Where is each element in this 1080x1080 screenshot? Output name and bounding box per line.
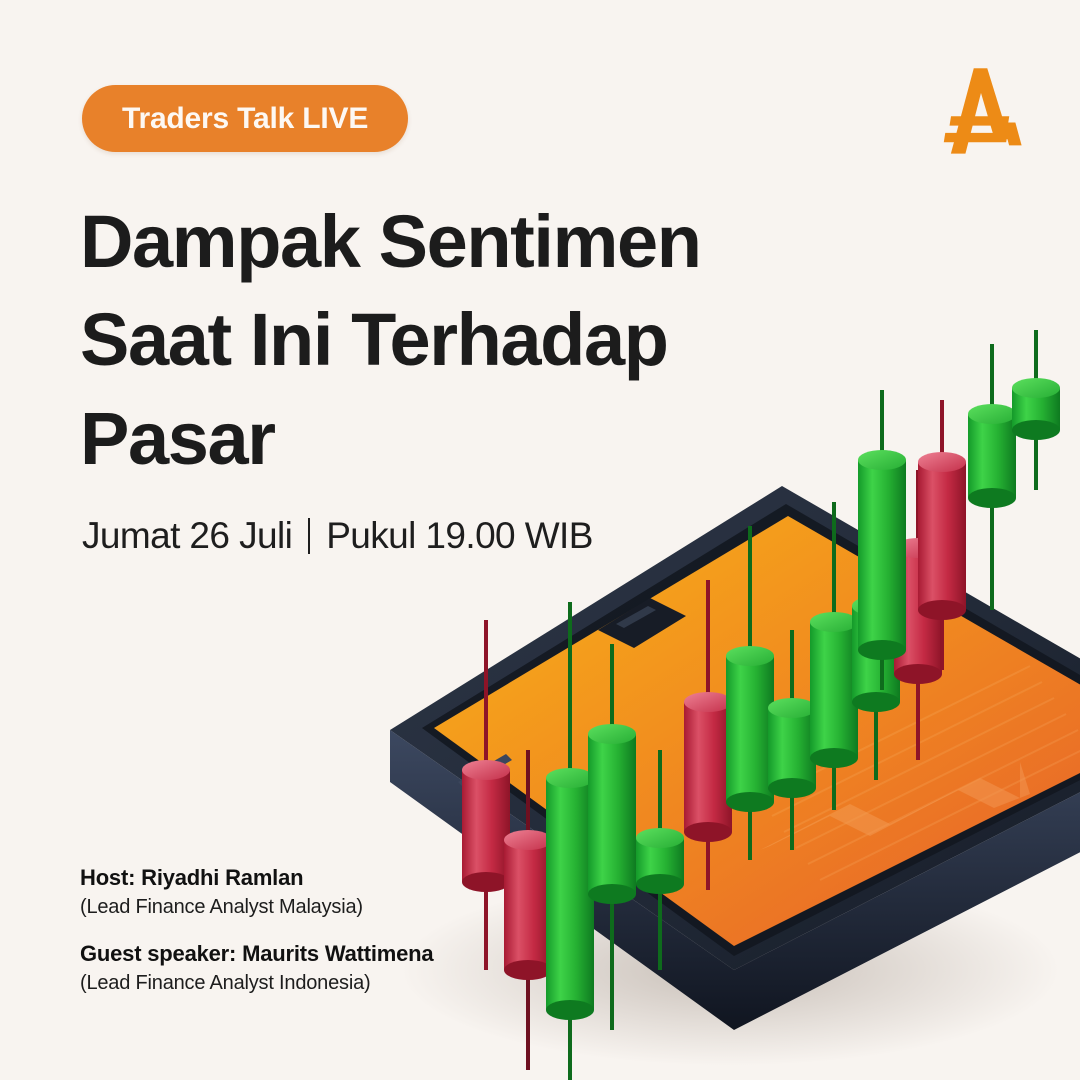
- live-badge[interactable]: Traders Talk LIVE: [82, 85, 408, 152]
- phone-candlestick-illustration: [330, 330, 1080, 1080]
- poster-canvas: Traders Talk LIVE Dampak Sentimen Saat I…: [0, 0, 1080, 1080]
- brand-logo: [928, 58, 1032, 162]
- schedule-separator-icon: [308, 518, 310, 554]
- credits: Host: Riyadhi Ramlan (Lead Finance Analy…: [80, 865, 433, 995]
- live-badge-label: Traders Talk LIVE: [122, 102, 368, 136]
- host-role: (Lead Finance Analyst Malaysia): [80, 896, 433, 919]
- candle-bull-15: [1012, 330, 1060, 490]
- credit-host: Host: Riyadhi Ramlan (Lead Finance Analy…: [80, 865, 433, 919]
- host-name: Host: Riyadhi Ramlan: [80, 865, 433, 891]
- credit-guest: Guest speaker: Maurits Wattimena (Lead F…: [80, 941, 433, 995]
- headline-line-1: Dampak Sentimen: [80, 193, 840, 291]
- guest-name: Guest speaker: Maurits Wattimena: [80, 941, 433, 967]
- candle-bull-12: [858, 390, 906, 690]
- candle-bull-14: [968, 344, 1016, 610]
- schedule-date: Jumat 26 Juli: [82, 515, 292, 557]
- guest-role: (Lead Finance Analyst Indonesia): [80, 972, 433, 995]
- brand-a-currency-icon: [928, 58, 1032, 162]
